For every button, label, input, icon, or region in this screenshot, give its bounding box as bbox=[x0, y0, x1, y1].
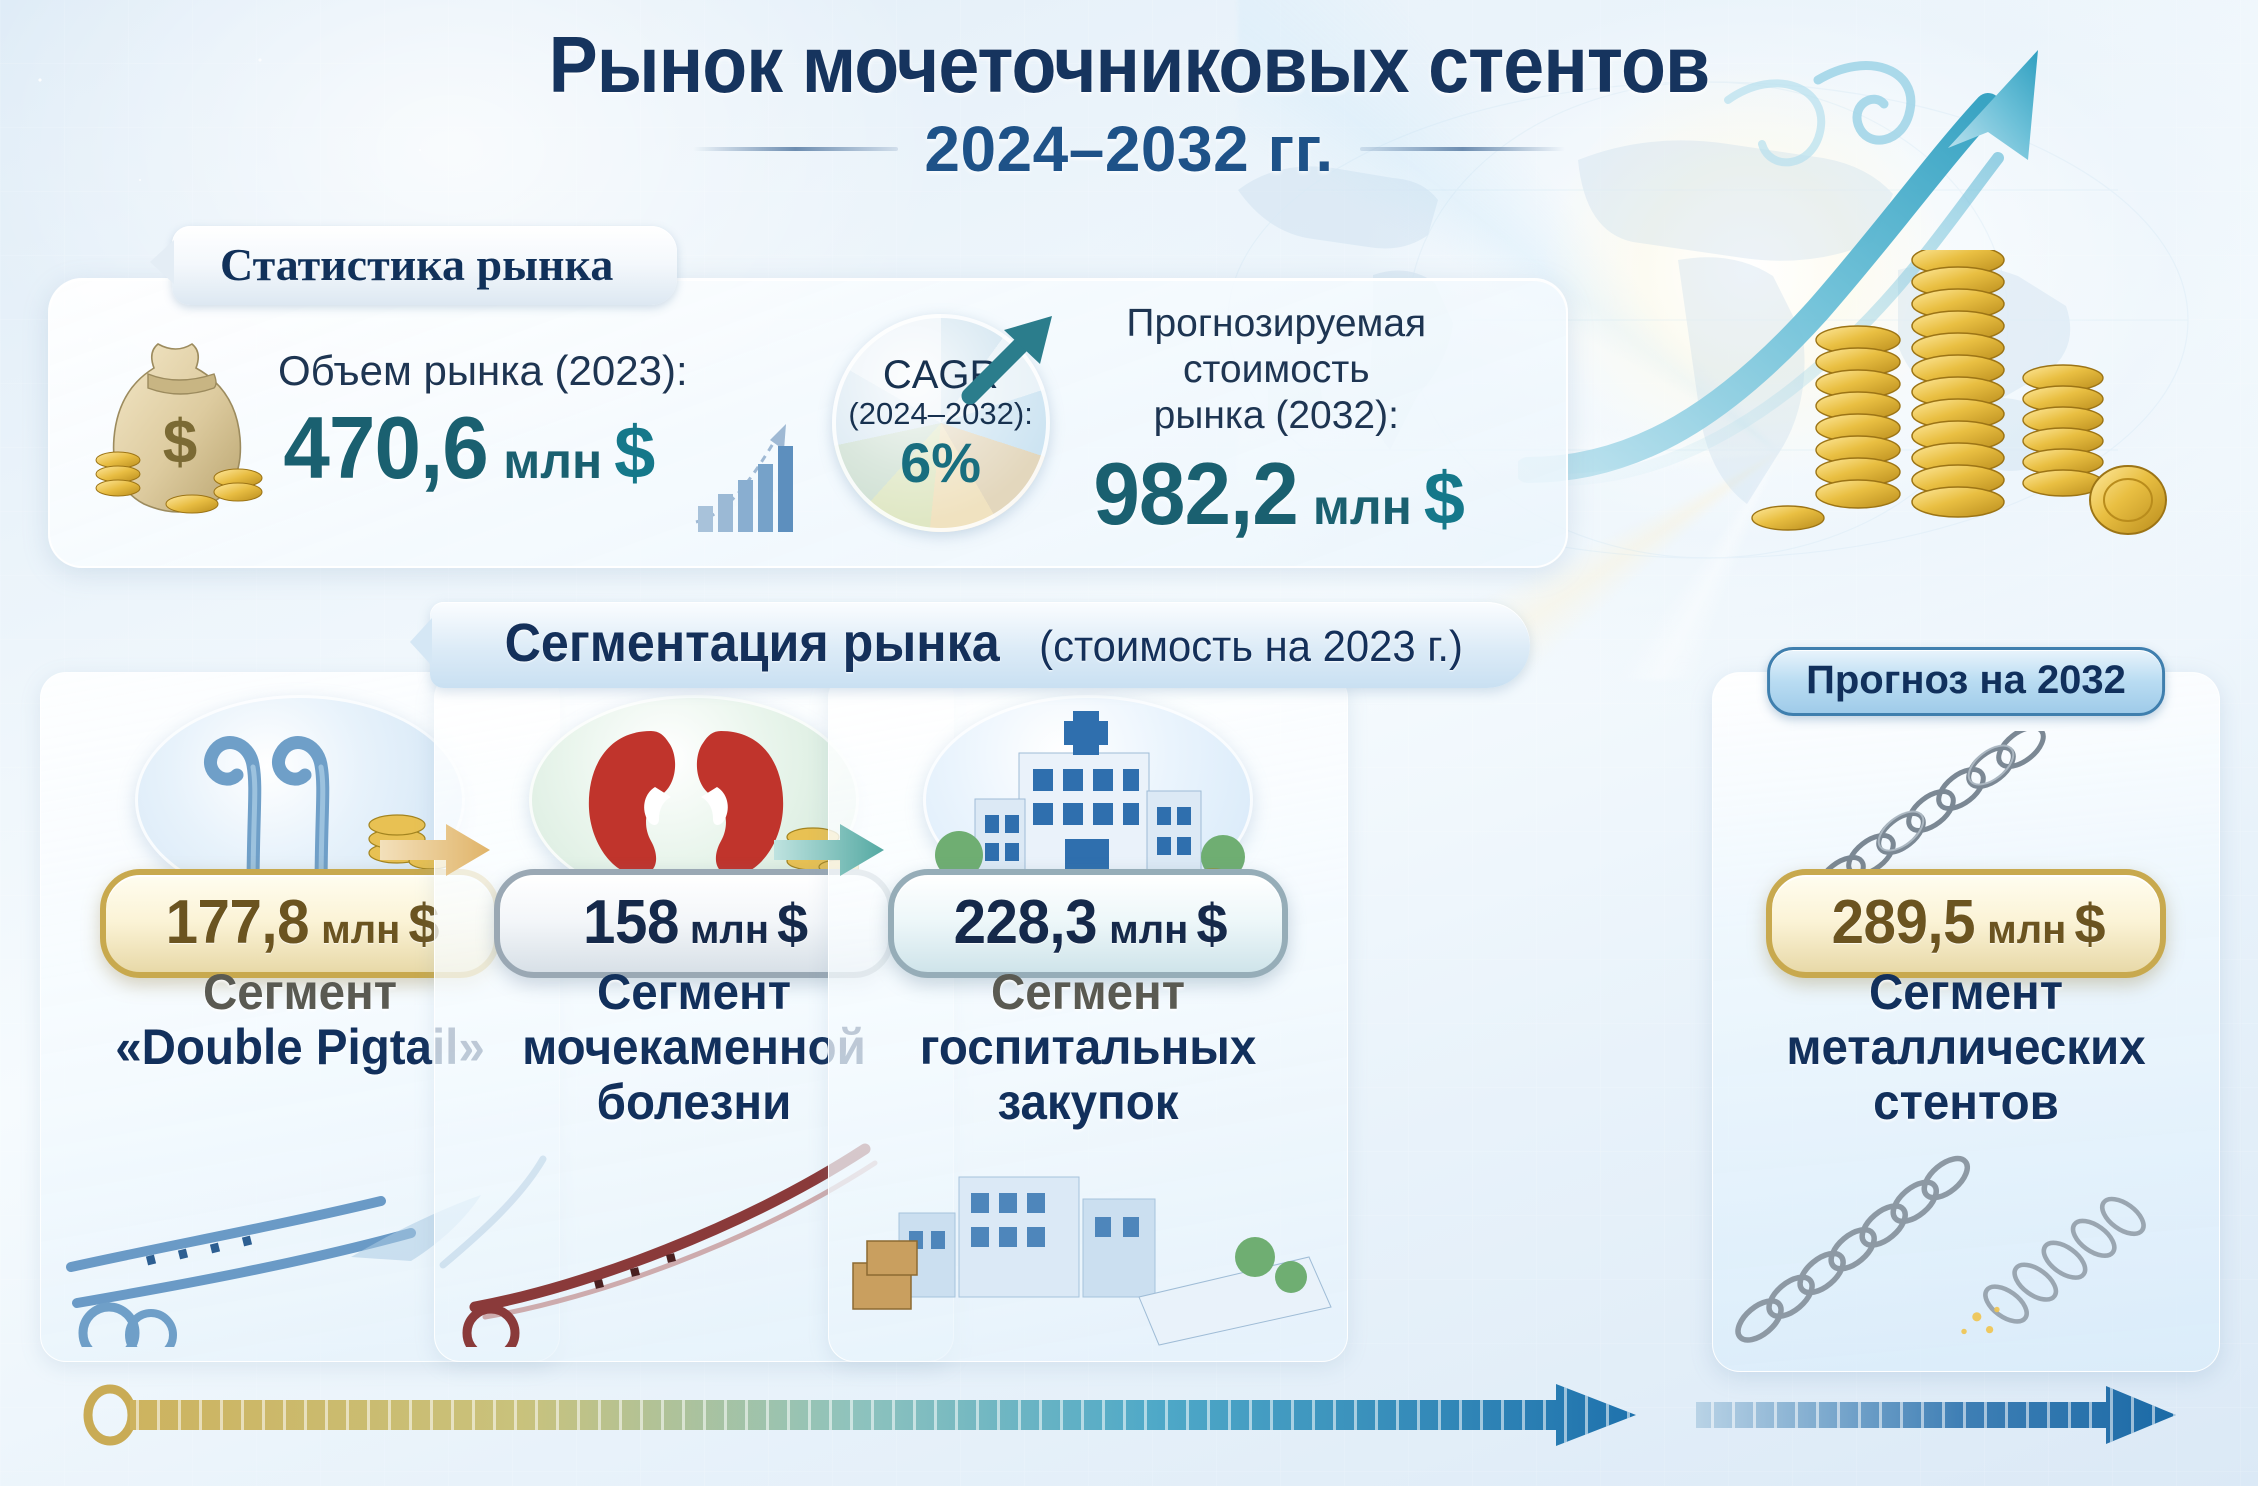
mini-bar-chart-icon bbox=[692, 410, 822, 540]
market-statistics-tab: Статистика рынка bbox=[172, 226, 677, 305]
page-subtitle: 2024–2032 гг. bbox=[924, 112, 1333, 186]
forecast-label-line2: стоимость bbox=[1088, 347, 1465, 393]
market-size-label: Объем рынка (2023): bbox=[278, 347, 688, 395]
segment-value-3: 228,3 bbox=[953, 887, 1096, 958]
market-size-unit: млн bbox=[503, 432, 602, 490]
forecast-value-label: Прогнозируемая стоимость рынка (2032): bbox=[1088, 301, 1465, 439]
market-statistics-panel: $ Объем рынка (2023): 470,6 млн $ bbox=[48, 278, 1568, 568]
forecast-value-block: Прогнозируемая стоимость рынка (2032): 9… bbox=[1088, 301, 1465, 545]
forecast-segment-value: 289,5 bbox=[1831, 887, 1974, 958]
segment-currency-2: $ bbox=[777, 892, 808, 955]
forecast-segment-unit: млн bbox=[1987, 908, 2066, 952]
page-header: Рынок мочеточниковых стентов 2024–2032 г… bbox=[0, 24, 2258, 186]
timeline-bar bbox=[76, 1382, 2186, 1448]
forecast-label-line1: Сегмент bbox=[1739, 965, 2193, 1020]
segment-value-2: 158 bbox=[583, 887, 679, 958]
segmentation-header: Сегментация рынка(стоимость на 2023 г.) bbox=[486, 612, 1474, 674]
forecast-value-pill: 289,5млн$ bbox=[1766, 869, 2166, 978]
segment-label-3-line3: закупок bbox=[855, 1075, 1321, 1130]
forecast-badge: Прогноз на 2032 bbox=[1767, 647, 2165, 716]
gold-coins-decoration-icon bbox=[1708, 250, 2188, 550]
segment-label-3: Сегмент госпитальных закупок bbox=[843, 965, 1333, 1130]
money-bag-icon: $ bbox=[92, 328, 272, 518]
segment-label-3-line1: Сегмент bbox=[855, 965, 1321, 1020]
segment-value-1: 177,8 bbox=[165, 887, 308, 958]
forecast-label-line2: металлических bbox=[1739, 1020, 2193, 1075]
forecast-segment-label: Сегмент металлических стентов bbox=[1727, 965, 2205, 1130]
flow-arrow-2-icon bbox=[774, 822, 884, 878]
segment-cards: 177,8млн$ Сегмент «Double Pigtail» bbox=[40, 672, 1720, 1372]
timeline-arrow-icon bbox=[88, 1384, 1636, 1446]
segment-unit-1: млн bbox=[321, 908, 400, 952]
forecast-value-unit: млн bbox=[1313, 478, 1412, 536]
cagr-value: 6% bbox=[900, 435, 981, 491]
timeline-arrow-secondary-icon bbox=[1696, 1386, 2176, 1444]
forecast-label-line1: Прогнозируемая bbox=[1088, 301, 1465, 347]
forecast-value-number: 982,2 bbox=[1093, 443, 1297, 545]
segment-card-hospital-procurement[interactable]: 228,3млн$ Сегмент госпитальных закупок bbox=[828, 672, 1348, 1362]
flow-arrow-1-icon bbox=[380, 822, 490, 878]
cagr-donut-chart: CAGR (2024–2032): 6% bbox=[832, 314, 1050, 532]
svg-text:$: $ bbox=[163, 408, 197, 477]
market-statistics-tab-label: Статистика рынка bbox=[220, 239, 613, 290]
forecast-label-line3: стентов bbox=[1739, 1075, 2193, 1130]
metal-stent-photo bbox=[1723, 1147, 2161, 1357]
market-size-currency: $ bbox=[614, 410, 655, 495]
subtitle-rule-left bbox=[693, 147, 898, 151]
forecast-label-line3: рынка (2032): bbox=[1088, 393, 1465, 439]
segment-currency-3: $ bbox=[1196, 892, 1227, 955]
segmentation-header-subtitle: (стоимость на 2023 г.) bbox=[1039, 622, 1463, 672]
growth-arrow-icon bbox=[956, 304, 1064, 412]
page-title: Рынок мочеточниковых стентов bbox=[90, 24, 2167, 106]
segmentation-header-title: Сегментация рынка bbox=[505, 612, 1000, 674]
forecast-panel-metal-stents[interactable]: Прогноз на 2032 289,5млн$ Сегмент металл… bbox=[1712, 672, 2220, 1372]
segment-unit-2: млн bbox=[690, 908, 769, 952]
segment-value-pill-3: 228,3млн$ bbox=[888, 869, 1288, 978]
market-size-value: 470,6 bbox=[283, 397, 487, 499]
segmentation-header-ribbon: Сегментация рынка(стоимость на 2023 г.) bbox=[430, 602, 1530, 688]
market-size-block: Объем рынка (2023): 470,6 млн $ bbox=[278, 347, 688, 499]
subtitle-rule-right bbox=[1360, 147, 1565, 151]
forecast-value-currency: $ bbox=[1424, 456, 1465, 541]
subtitle-row: 2024–2032 гг. bbox=[0, 112, 2258, 186]
segment-label-3-line2: госпитальных bbox=[855, 1020, 1321, 1075]
segment-unit-3: млн bbox=[1109, 908, 1188, 952]
forecast-badge-label: Прогноз на 2032 bbox=[1806, 658, 2126, 702]
hospital-photo-3 bbox=[839, 1137, 1339, 1347]
forecast-segment-currency: $ bbox=[2074, 892, 2105, 955]
